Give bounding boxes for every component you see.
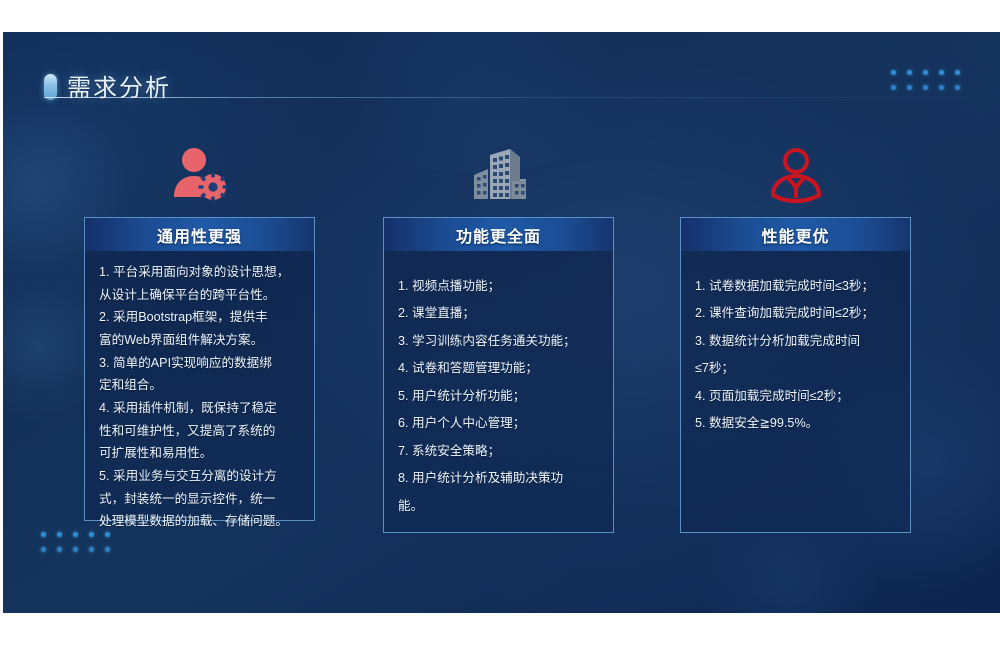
- dot: [955, 85, 960, 90]
- dot: [939, 70, 944, 75]
- body-line: 1. 试卷数据加载完成时间≤3秒；: [695, 273, 898, 300]
- body-line: 2. 课堂直播；: [398, 300, 601, 327]
- dot: [891, 85, 896, 90]
- body-line: 富的Web界面组件解决方案。: [99, 329, 302, 352]
- dot: [955, 70, 960, 75]
- body-line: 式，封装统一的显示控件，统一: [99, 488, 302, 511]
- user-settings-icon: [84, 145, 315, 203]
- body-line: 8. 用户统计分析及辅助决策功: [398, 465, 601, 492]
- body-line: 3. 数据统计分析加载完成时间: [695, 328, 898, 355]
- dot: [41, 532, 46, 537]
- column-performance: 性能更优 1. 试卷数据加载完成时间≤3秒； 2. 课件查询加载完成时间≤2秒；…: [680, 145, 911, 533]
- dot: [907, 85, 912, 90]
- business-person-icon: [680, 145, 911, 203]
- body-line: 5. 用户统计分析功能；: [398, 383, 601, 410]
- dot: [939, 85, 944, 90]
- body-line: 可扩展性和易用性。: [99, 442, 302, 465]
- dot: [89, 547, 94, 552]
- body-line: 能。: [398, 493, 601, 520]
- slide-header: 需求分析: [3, 32, 1000, 104]
- dot: [105, 547, 110, 552]
- dot-grid-icon-bottom-left: [41, 532, 114, 556]
- body-line: 定和组合。: [99, 374, 302, 397]
- card-heading: 功能更全面: [384, 218, 613, 251]
- body-line: 5. 采用业务与交互分离的设计方: [99, 465, 302, 488]
- dot: [907, 70, 912, 75]
- dot: [57, 547, 62, 552]
- card-generality: 通用性更强 1. 平台采用面向对象的设计思想， 从设计上确保平台的跨平台性。 2…: [84, 217, 315, 521]
- dot: [923, 70, 928, 75]
- body-line: 7. 系统安全策略；: [398, 438, 601, 465]
- header-divider: [44, 97, 969, 98]
- body-line: 5. 数据安全≧99.5%。: [695, 410, 898, 437]
- body-line: 4. 页面加载完成时间≤2秒；: [695, 383, 898, 410]
- body-line: 4. 采用插件机制，既保持了稳定: [99, 397, 302, 420]
- dot: [89, 532, 94, 537]
- body-line: 2. 课件查询加载完成时间≤2秒；: [695, 300, 898, 327]
- card-features: 功能更全面 1. 视频点播功能； 2. 课堂直播； 3. 学习训练内容任务通关功…: [383, 217, 614, 533]
- dot: [73, 532, 78, 537]
- body-line: 1. 平台采用面向对象的设计思想，: [99, 261, 302, 284]
- body-line: 处理模型数据的加载、存储问题。: [99, 510, 302, 533]
- card-heading: 通用性更强: [85, 218, 314, 251]
- body-line: ≤7秒；: [695, 355, 898, 382]
- body-line: 3. 简单的API实现响应的数据绑: [99, 352, 302, 375]
- body-line: 4. 试卷和答题管理功能；: [398, 355, 601, 382]
- body-line: 3. 学习训练内容任务通关功能；: [398, 328, 601, 355]
- body-line: 2. 采用Bootstrap框架，提供丰: [99, 306, 302, 329]
- card-heading: 性能更优: [681, 218, 910, 251]
- body-line: 1. 视频点播功能；: [398, 273, 601, 300]
- dot: [41, 547, 46, 552]
- dot: [73, 547, 78, 552]
- body-line: 从设计上确保平台的跨平台性。: [99, 284, 302, 307]
- card-body: 1. 试卷数据加载完成时间≤3秒； 2. 课件查询加载完成时间≤2秒； 3. 数…: [681, 251, 910, 532]
- card-performance: 性能更优 1. 试卷数据加载完成时间≤3秒； 2. 课件查询加载完成时间≤2秒；…: [680, 217, 911, 533]
- buildings-icon: [383, 145, 614, 203]
- dot: [923, 85, 928, 90]
- dot: [57, 532, 62, 537]
- dot-grid-icon-top-right: [891, 70, 964, 94]
- card-body: 1. 平台采用面向对象的设计思想， 从设计上确保平台的跨平台性。 2. 采用Bo…: [85, 251, 314, 520]
- slide-canvas: 需求分析: [3, 32, 1000, 613]
- body-line: 6. 用户个人中心管理；: [398, 410, 601, 437]
- dot: [891, 70, 896, 75]
- column-features: 功能更全面 1. 视频点播功能； 2. 课堂直播； 3. 学习训练内容任务通关功…: [383, 145, 614, 533]
- body-line: 性和可维护性，又提高了系统的: [99, 420, 302, 443]
- card-body: 1. 视频点播功能； 2. 课堂直播； 3. 学习训练内容任务通关功能； 4. …: [384, 251, 613, 532]
- column-generality: 通用性更强 1. 平台采用面向对象的设计思想， 从设计上确保平台的跨平台性。 2…: [84, 145, 315, 521]
